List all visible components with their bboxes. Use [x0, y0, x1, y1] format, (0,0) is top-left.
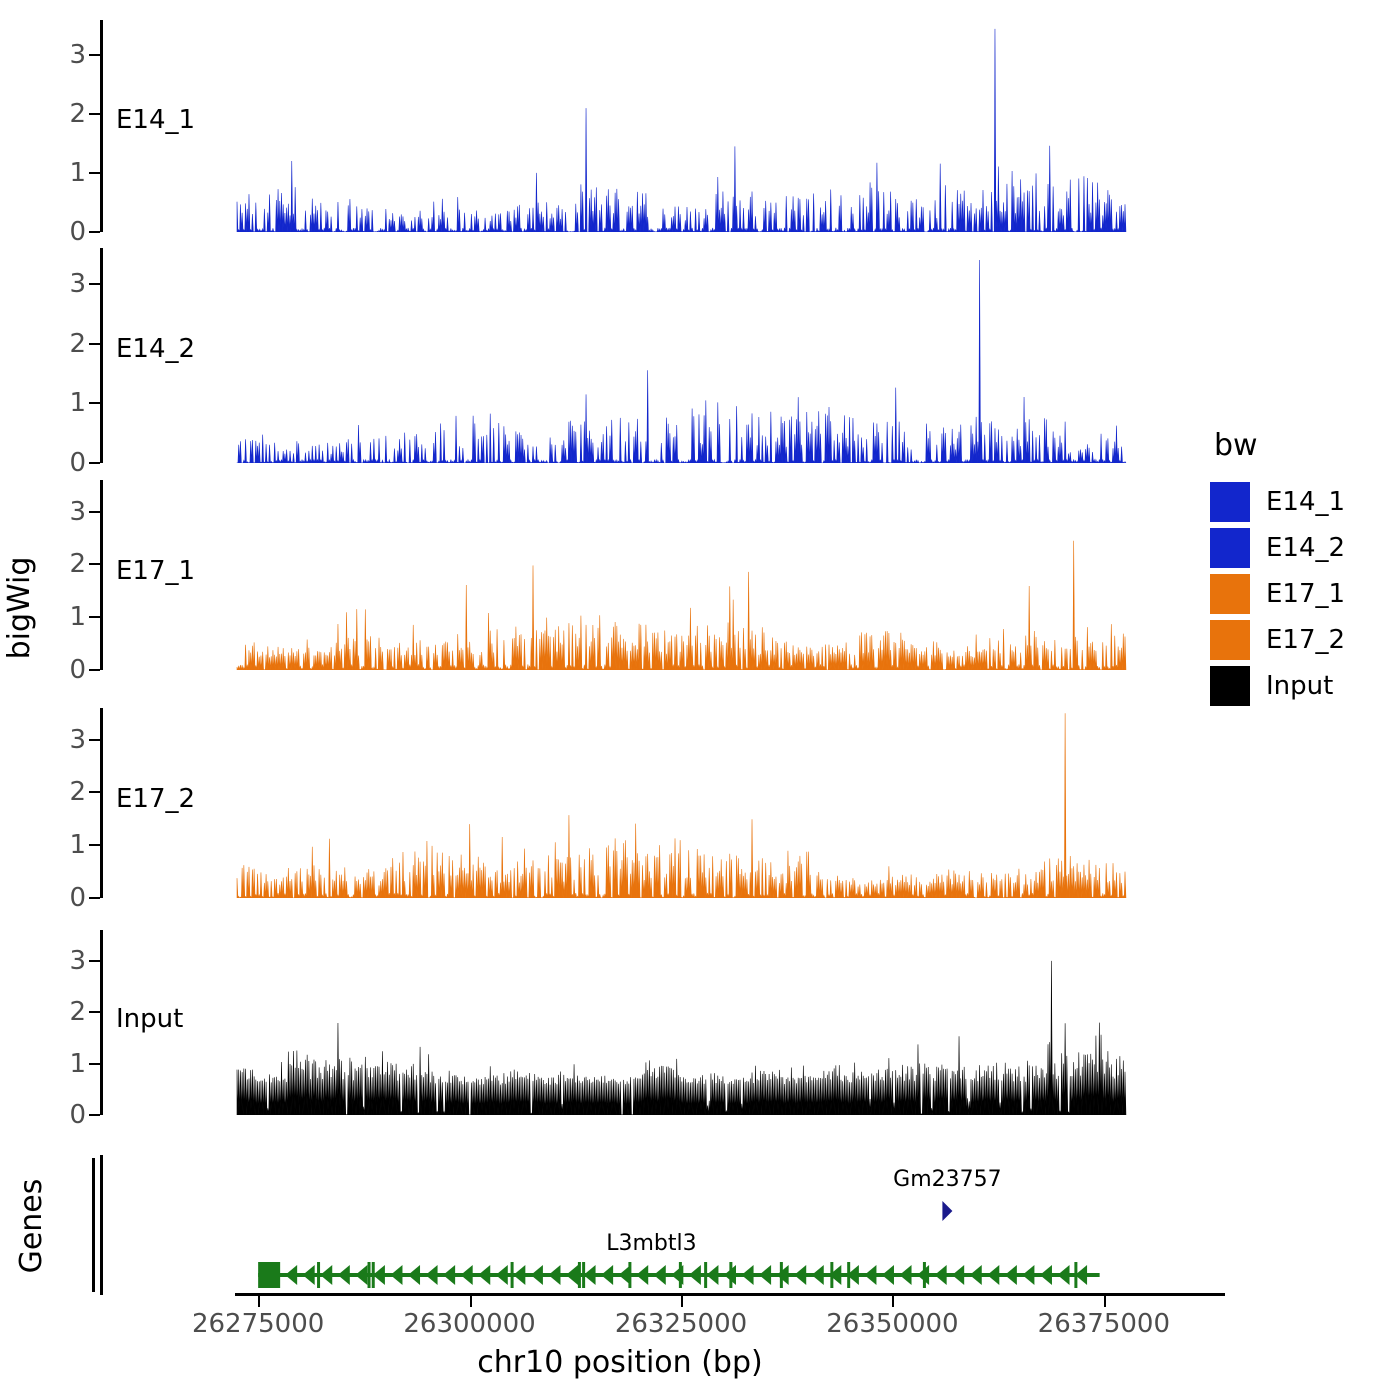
x-axis-title: chr10 position (bp)	[100, 1345, 1140, 1380]
x-tick-label: 26300000	[403, 1309, 535, 1339]
legend-item-label: Input	[1266, 671, 1333, 701]
y-tick-mark	[89, 172, 100, 174]
y-tick-mark	[89, 343, 100, 345]
y-tick-mark	[89, 897, 100, 899]
x-tick-mark	[470, 1296, 472, 1307]
gene-label-l3mbtl3: L3mbtl3	[606, 1231, 696, 1256]
gene-exon-tick	[679, 1262, 682, 1288]
strand-arrow	[1022, 1265, 1034, 1285]
strand-arrow	[935, 1265, 947, 1285]
y-tick-mark	[89, 563, 100, 565]
gene-label-gm23757: Gm23757	[893, 1167, 1001, 1192]
strand-arrow	[285, 1265, 297, 1285]
strand-arrow	[601, 1265, 613, 1285]
strand-arrow	[461, 1265, 473, 1285]
y-tick-mark	[89, 283, 100, 285]
strand-arrow	[864, 1265, 876, 1285]
coverage-area	[237, 713, 1126, 898]
gene-exon-tick	[511, 1262, 514, 1288]
gene-exon-tick	[704, 1262, 707, 1288]
y-tick-mark	[89, 511, 100, 513]
legend-item-e14_1[interactable]: E14_1	[1210, 479, 1390, 525]
gene-exon-tick	[1074, 1262, 1077, 1288]
y-tick-mark	[89, 1063, 100, 1065]
strand-arrow	[1040, 1265, 1052, 1285]
strand-arrow	[1058, 1265, 1070, 1285]
track-label-input: Input	[116, 1004, 183, 1034]
strand-arrow	[952, 1265, 964, 1285]
y-tick-mark	[89, 844, 100, 846]
strand-arrow	[942, 1201, 952, 1221]
strand-arrow	[531, 1265, 543, 1285]
x-axis: 2627500026300000263250002635000026375000	[100, 1293, 1135, 1345]
x-tick-mark	[892, 1296, 894, 1307]
gene-exon-tick	[368, 1262, 371, 1288]
legend-color-swatch	[1210, 528, 1250, 568]
x-axis-line	[235, 1293, 1225, 1296]
plot-area	[103, 480, 1135, 670]
legend-item-label: E14_2	[1266, 533, 1345, 563]
coverage-track-e17_2	[103, 708, 1135, 898]
y-tick-mark	[89, 1011, 100, 1013]
y-tick-mark	[89, 54, 100, 56]
gene-exon-tick	[729, 1262, 732, 1288]
strand-arrow	[794, 1265, 806, 1285]
coverage-track-e14_1	[103, 20, 1135, 232]
x-tick-mark	[1104, 1296, 1106, 1307]
y-axis-title-genes: Genes	[14, 1166, 50, 1286]
track-label-e14_1: E14_1	[116, 105, 195, 135]
gene-exon-tick	[372, 1262, 375, 1288]
y-tick-mark	[89, 960, 100, 962]
legend-title: bw	[1214, 428, 1390, 463]
gene-feature-gm23757[interactable]	[942, 1201, 952, 1221]
strand-arrow	[900, 1265, 912, 1285]
legend-color-swatch	[1210, 620, 1250, 660]
x-tick-label: 26275000	[192, 1309, 324, 1339]
plot-area	[103, 248, 1135, 463]
strand-arrow	[355, 1265, 367, 1285]
coverage-track-e17_1	[103, 480, 1135, 670]
legend-item-label: E17_1	[1266, 579, 1345, 609]
track-panel-e17_2: 0123E17_2	[100, 708, 1135, 898]
legend-items: E14_1E14_2E17_1E17_2Input	[1210, 479, 1390, 709]
track-label-e14_2: E14_2	[116, 334, 195, 364]
y-tick-mark	[89, 616, 100, 618]
gene-exon-block	[258, 1262, 280, 1288]
gene-exon-tick	[317, 1262, 320, 1288]
y-axis-title-bigwig: bigWig	[2, 528, 38, 688]
strand-arrow	[987, 1265, 999, 1285]
legend-color-swatch	[1210, 574, 1250, 614]
strand-arrow	[584, 1265, 596, 1285]
legend-item-label: E17_2	[1266, 625, 1345, 655]
strand-arrow	[408, 1265, 420, 1285]
track-label-e17_2: E17_2	[116, 784, 195, 814]
x-tick-label: 26325000	[615, 1309, 747, 1339]
x-tick-mark	[681, 1296, 683, 1307]
legend-item-e17_2[interactable]: E17_2	[1210, 617, 1390, 663]
strand-arrow	[970, 1265, 982, 1285]
strand-arrow	[426, 1265, 438, 1285]
strand-arrow	[1005, 1265, 1017, 1285]
legend-color-swatch	[1210, 666, 1250, 706]
strand-arrow	[654, 1265, 666, 1285]
track-panel-e14_1: 0123E14_1	[100, 20, 1135, 232]
legend-item-e14_2[interactable]: E14_2	[1210, 525, 1390, 571]
y-tick-mark	[89, 113, 100, 115]
plot-area	[103, 708, 1135, 898]
coverage-area	[237, 260, 1126, 463]
strand-arrow	[689, 1265, 701, 1285]
strand-arrow	[812, 1265, 824, 1285]
x-tick-label: 26350000	[826, 1309, 958, 1339]
coverage-area	[237, 29, 1126, 232]
legend-item-label: E14_1	[1266, 487, 1345, 517]
gene-exon-tick	[780, 1262, 783, 1288]
gene-exon-tick	[582, 1262, 585, 1288]
y-tick-mark	[89, 231, 100, 233]
y-tick-mark	[89, 669, 100, 671]
strand-arrow	[443, 1265, 455, 1285]
x-tick-label: 26375000	[1038, 1309, 1170, 1339]
track-panel-input: 0123Input	[100, 930, 1135, 1115]
y-tick-mark	[89, 462, 100, 464]
gene-annotation-panel: L3mbtl3Gm23757	[100, 1155, 1135, 1295]
strand-arrow	[390, 1265, 402, 1285]
legend-item-e17_1[interactable]: E17_1	[1210, 571, 1390, 617]
strand-arrow	[636, 1265, 648, 1285]
gene-exon-tick	[847, 1262, 850, 1288]
strand-arrow	[759, 1265, 771, 1285]
gene-exon-tick	[923, 1262, 926, 1288]
coverage-track-e14_2	[103, 248, 1135, 463]
gene-exon-tick	[578, 1262, 581, 1288]
strand-arrow	[706, 1265, 718, 1285]
y-tick-mark	[89, 1114, 100, 1116]
y-tick-mark	[89, 791, 100, 793]
legend-item-input[interactable]: Input	[1210, 663, 1390, 709]
track-label-e17_1: E17_1	[116, 556, 195, 586]
y-tick-mark	[89, 402, 100, 404]
coverage-track-input	[103, 930, 1135, 1115]
strand-arrow	[478, 1265, 490, 1285]
strand-arrow	[320, 1265, 332, 1285]
track-panel-e17_1: 0123E17_1	[100, 480, 1135, 670]
coverage-area	[237, 541, 1126, 670]
gene-exon-tick	[830, 1262, 833, 1288]
gene-exon-tick	[628, 1262, 631, 1288]
strand-arrow	[496, 1265, 508, 1285]
strand-arrow	[338, 1265, 350, 1285]
genome-browser-figure: bigWig Genes 0123E14_10123E14_20123E17_1…	[0, 0, 1400, 1400]
legend: bw E14_1E14_2E17_1E17_2Input	[1210, 428, 1390, 709]
coverage-area	[237, 961, 1126, 1115]
y-tick-mark	[89, 739, 100, 741]
plot-area	[103, 20, 1135, 232]
strand-arrow	[303, 1265, 315, 1285]
x-tick-mark	[258, 1296, 260, 1307]
genes-strip-rule	[92, 1158, 95, 1292]
strand-arrow	[742, 1265, 754, 1285]
strand-arrow	[548, 1265, 560, 1285]
track-panel-e14_2: 0123E14_2	[100, 248, 1135, 463]
plot-area	[103, 930, 1135, 1115]
strand-arrow	[566, 1265, 578, 1285]
strand-arrow	[882, 1265, 894, 1285]
gene-feature-l3mbtl3[interactable]	[258, 1262, 1099, 1288]
strand-arrow	[513, 1265, 525, 1285]
legend-color-swatch	[1210, 482, 1250, 522]
